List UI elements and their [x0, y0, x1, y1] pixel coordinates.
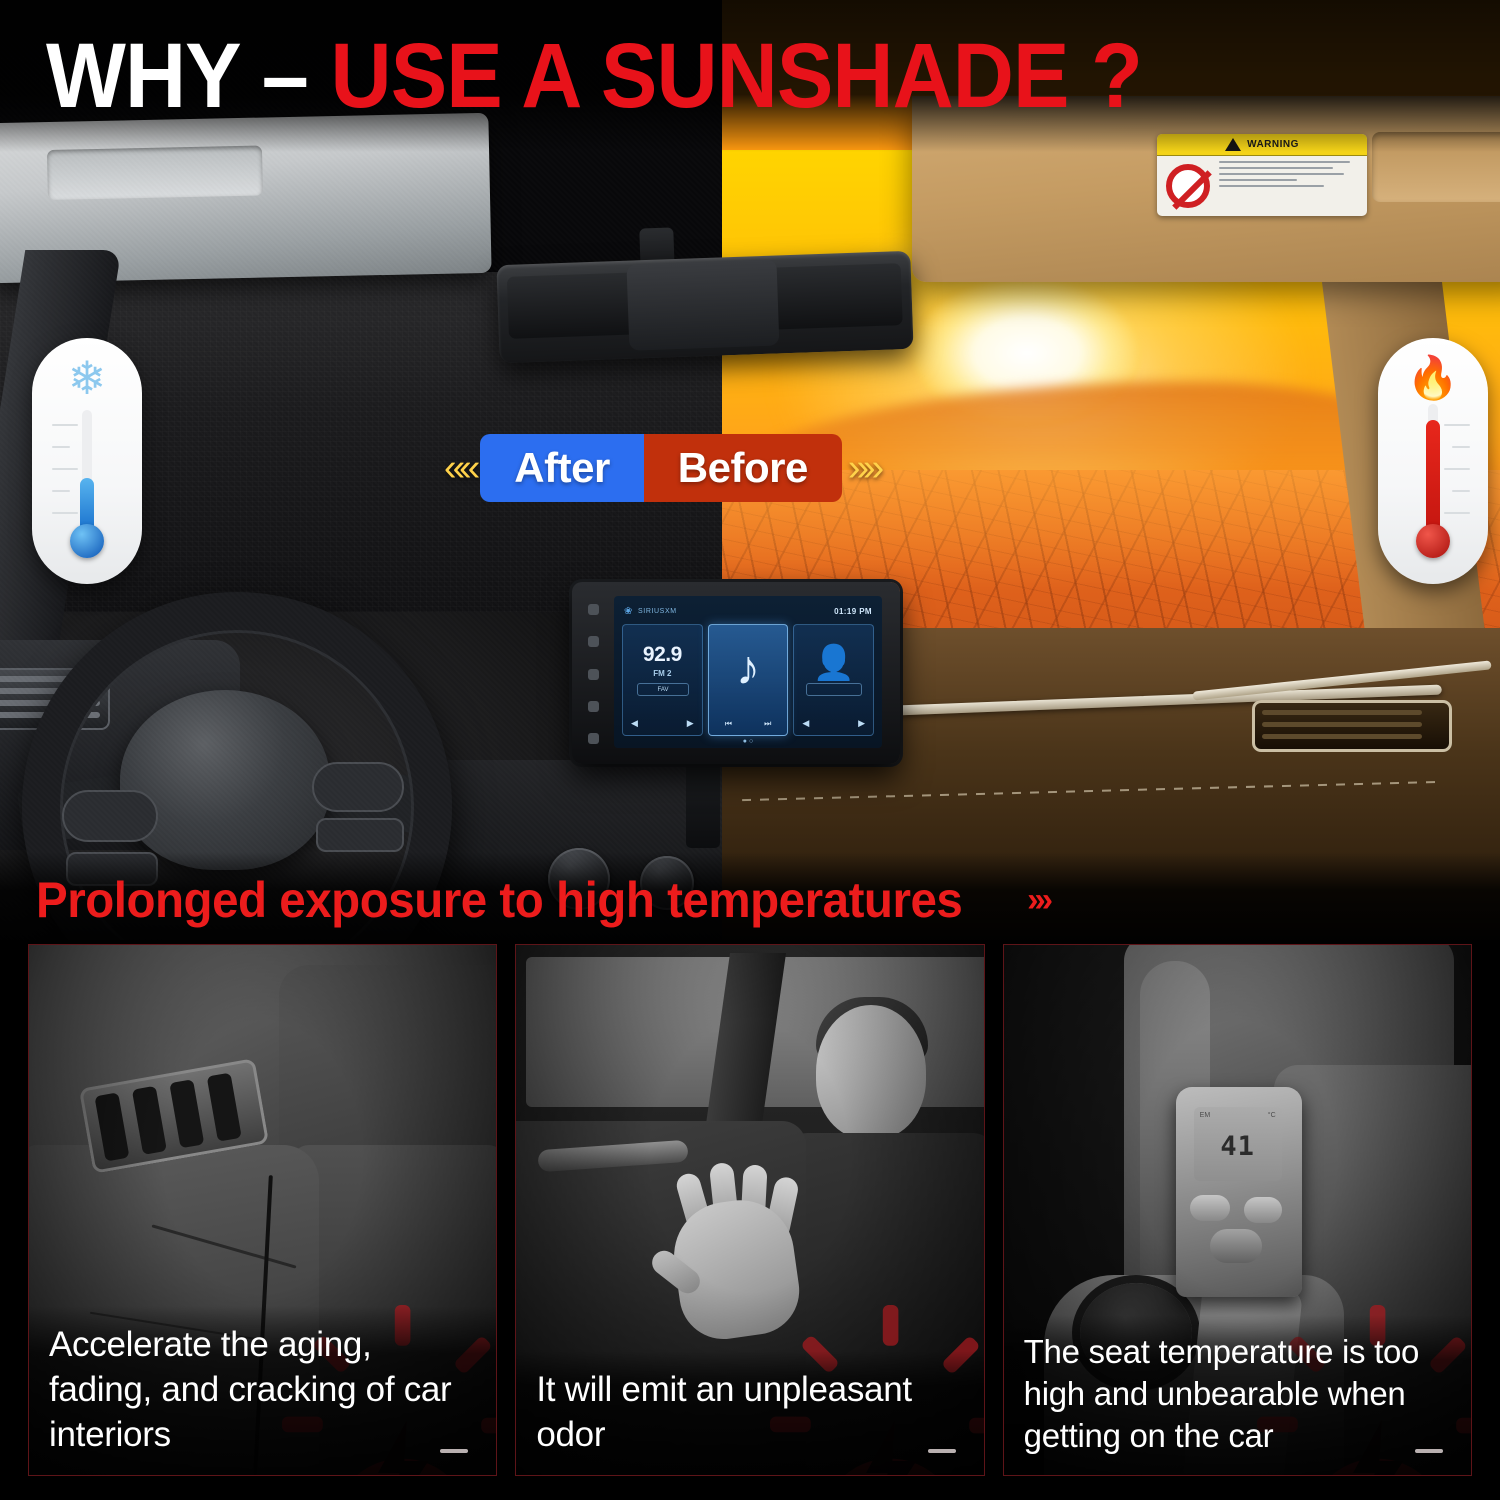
headunit-tiles: 92.9 FM 2 FAV ◀ ▶ ♪ ⏮ ⏭ 👤	[622, 624, 874, 736]
radio-band: FM 2	[623, 669, 702, 678]
steering-button-right-1	[312, 762, 404, 812]
after-air-vent	[0, 668, 110, 730]
panel-2-underscore	[928, 1449, 956, 1453]
subheading-chevrons-icon: ›››	[1027, 881, 1049, 920]
infotainment-head-unit[interactable]: ❀ SIRIUSXM 01:19 PM 92.9 FM 2 FAV ◀ ▶ ♪	[572, 582, 900, 764]
headunit-button-home[interactable]	[588, 604, 599, 615]
screen-page-dots[interactable]: ● ○	[614, 738, 882, 745]
steering-spoke-left	[16, 770, 153, 846]
steering-spoke-right	[296, 759, 443, 836]
panel-1-caption: Accelerate the aging, fading, and cracki…	[29, 1306, 496, 1475]
consequence-panels: Accelerate the aging, fading, and cracki…	[0, 944, 1500, 1500]
panel-1-underscore	[440, 1449, 468, 1453]
hot-thermometer-bulb	[1416, 524, 1450, 558]
hero-comparison-image: WARNING	[0, 0, 1500, 940]
snowflake-icon: ❄	[32, 352, 142, 404]
contact-person-icon: 👤	[794, 641, 873, 685]
headunit-carrier-label: SIRIUSXM	[638, 608, 677, 615]
media-transport-controls[interactable]: ⏮ ⏭	[709, 719, 788, 729]
after-dashboard-left	[0, 640, 240, 850]
bluetooth-icon: ❀	[624, 606, 633, 617]
media-tile[interactable]: ♪ ⏮ ⏭	[708, 624, 789, 736]
headunit-side-buttons[interactable]	[582, 604, 604, 744]
left-chevrons-icon: ««	[444, 449, 474, 487]
headunit-button-power[interactable]	[588, 733, 599, 744]
title-red-part: USE A SUNSHADE ?	[331, 25, 1142, 127]
hot-thermometer: 🔥	[1378, 338, 1488, 584]
warning-label-body	[1157, 156, 1367, 216]
rearview-mirror	[496, 251, 913, 363]
steering-button-left-1	[62, 790, 158, 842]
panel-2-caption: It will emit an unpleasant odor	[516, 1351, 983, 1475]
steering-button-right-2	[316, 818, 404, 852]
no-rear-child-seat-icon	[1157, 156, 1219, 216]
warning-label-fine-print	[1219, 156, 1367, 216]
panel-3-caption: The seat temperature is too high and unb…	[1004, 1315, 1471, 1475]
before-badge[interactable]: Before	[644, 434, 842, 502]
phone-action-button[interactable]	[806, 683, 862, 696]
headline-bar: WHY – USE A SUNSHADE ?	[0, 0, 1500, 152]
title-dash: –	[262, 25, 308, 127]
page-title: WHY – USE A SUNSHADE ?	[46, 28, 1142, 124]
cold-thermometer-bulb	[70, 524, 104, 558]
cold-thermometer: ❄	[32, 338, 142, 584]
phone-prev-icon[interactable]: ◀	[802, 718, 809, 729]
infotainment-screen[interactable]: ❀ SIRIUSXM 01:19 PM 92.9 FM 2 FAV ◀ ▶ ♪	[614, 596, 882, 748]
headunit-status-bar: ❀ SIRIUSXM 01:19 PM	[614, 602, 882, 620]
subheading-text: Prolonged exposure to high temperatures	[36, 873, 962, 927]
steering-wheel-hub	[120, 690, 330, 870]
panel-seat-too-hot: EM°C 41 The seat	[1003, 944, 1472, 1476]
phone-next-icon[interactable]: ▶	[858, 718, 865, 729]
hot-thermometer-mercury	[1426, 420, 1440, 540]
phone-tile[interactable]: 👤 ◀ ▶	[793, 624, 874, 736]
after-badge[interactable]: After	[480, 434, 644, 502]
right-chevrons-icon: »»	[848, 449, 878, 487]
radio-preset-button[interactable]: FAV	[637, 683, 689, 696]
title-white-part: WHY	[46, 25, 239, 127]
panel-aging-cracking: Accelerate the aging, fading, and cracki…	[28, 944, 497, 1476]
radio-frequency: 92.9	[623, 643, 702, 667]
subheading-bar: Prolonged exposure to high temperatures …	[0, 852, 1500, 940]
panel-unpleasant-odor: It will emit an unpleasant odor	[515, 944, 984, 1476]
radio-prev-icon[interactable]: ◀	[631, 718, 638, 729]
product-infographic: WARNING	[0, 0, 1500, 1500]
before-air-vent	[1252, 700, 1452, 752]
flame-icon: 🔥	[1378, 352, 1488, 404]
headunit-mount	[686, 756, 720, 848]
headunit-button-seek[interactable]	[588, 701, 599, 712]
headunit-button-volume[interactable]	[588, 669, 599, 680]
after-visor-slot	[47, 146, 263, 200]
media-next-icon[interactable]: ⏭	[764, 719, 771, 729]
before-after-toggle[interactable]: «« After Before »»	[444, 432, 1004, 504]
headunit-clock: 01:19 PM	[834, 607, 872, 616]
radio-next-icon[interactable]: ▶	[687, 718, 694, 729]
music-note-icon: ♪	[709, 641, 788, 697]
radio-tile[interactable]: 92.9 FM 2 FAV ◀ ▶	[622, 624, 703, 736]
headunit-button-menu[interactable]	[588, 636, 599, 647]
panel-3-underscore	[1415, 1449, 1443, 1453]
media-prev-icon[interactable]: ⏮	[725, 719, 732, 729]
mirror-housing-pad	[626, 259, 779, 350]
